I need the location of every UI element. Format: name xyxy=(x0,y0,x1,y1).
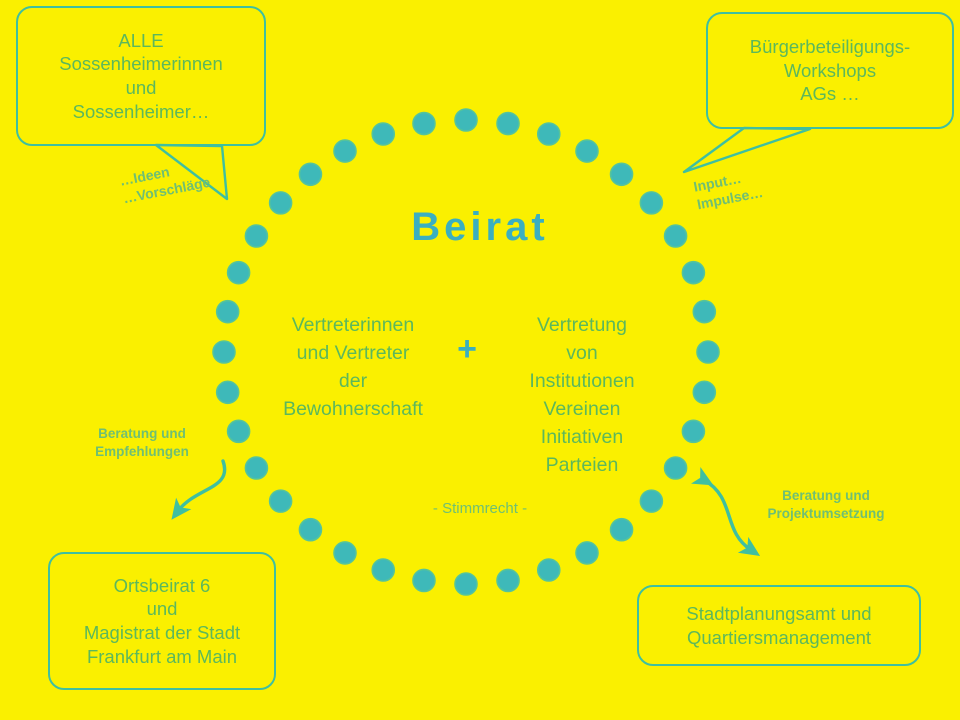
callout-citizens-label: ALLE Sossenheimerinnen und Sossenheimer… xyxy=(18,29,264,124)
circle-dot xyxy=(372,123,394,145)
circle-dot xyxy=(538,123,560,145)
circle-dot xyxy=(334,542,356,564)
circle-dot xyxy=(682,420,704,442)
beirat-members-institutions: Vertretung von Institutionen Vereinen In… xyxy=(487,311,677,479)
circle-dot xyxy=(228,420,250,442)
circle-dot xyxy=(455,573,477,595)
box-stadtplanung-label: Stadtplanungsamt und Quartiersmanagement xyxy=(639,602,919,649)
circle-dot xyxy=(693,381,715,403)
annotation-beratung-projektumsetzung: Beratung und Projektumsetzung xyxy=(745,487,907,523)
circle-dot xyxy=(455,109,477,131)
circle-dot xyxy=(538,559,560,581)
circle-dot xyxy=(576,140,598,162)
circle-dot xyxy=(299,163,321,185)
circle-dot xyxy=(217,301,239,323)
circle-dot xyxy=(413,113,435,135)
circle-dot xyxy=(682,262,704,284)
circle-dot xyxy=(372,559,394,581)
circle-dot xyxy=(299,519,321,541)
page-title: Beirat xyxy=(0,205,960,250)
annotation-ideen-vorschlaege: …Ideen …Vorschläge xyxy=(118,143,272,207)
circle-dot xyxy=(611,519,633,541)
plus-icon: + xyxy=(440,327,494,371)
diagram-canvas: ALLE Sossenheimerinnen und Sossenheimer…… xyxy=(0,0,960,720)
circle-dot xyxy=(213,341,235,363)
circle-dot xyxy=(576,542,598,564)
circle-dot xyxy=(413,569,435,591)
beirat-members-residents: Vertreterinnen und Vertreter der Bewohne… xyxy=(258,311,448,423)
circle-dot xyxy=(693,301,715,323)
circle-dot xyxy=(497,113,519,135)
annotation-beratung-empfehlungen: Beratung und Empfehlungen xyxy=(72,425,212,461)
circle-dot xyxy=(217,381,239,403)
circle-dot xyxy=(611,163,633,185)
circle-dot xyxy=(334,140,356,162)
callout-workshops-label: Bürgerbeteiligungs- Workshops AGs … xyxy=(708,35,952,106)
circle-dot xyxy=(245,457,267,479)
box-stadtplanungsamt[interactable]: Stadtplanungsamt und Quartiersmanagement xyxy=(637,585,921,666)
box-ortsbeirat-label: Ortsbeirat 6 und Magistrat der Stadt Fra… xyxy=(50,574,274,669)
circle-dot xyxy=(497,569,519,591)
box-ortsbeirat-magistrat[interactable]: Ortsbeirat 6 und Magistrat der Stadt Fra… xyxy=(48,552,276,690)
circle-dot xyxy=(697,341,719,363)
circle-dot xyxy=(228,262,250,284)
callout-citizens[interactable]: ALLE Sossenheimerinnen und Sossenheimer… xyxy=(16,6,266,146)
callout-workshops[interactable]: Bürgerbeteiligungs- Workshops AGs … xyxy=(706,12,954,129)
